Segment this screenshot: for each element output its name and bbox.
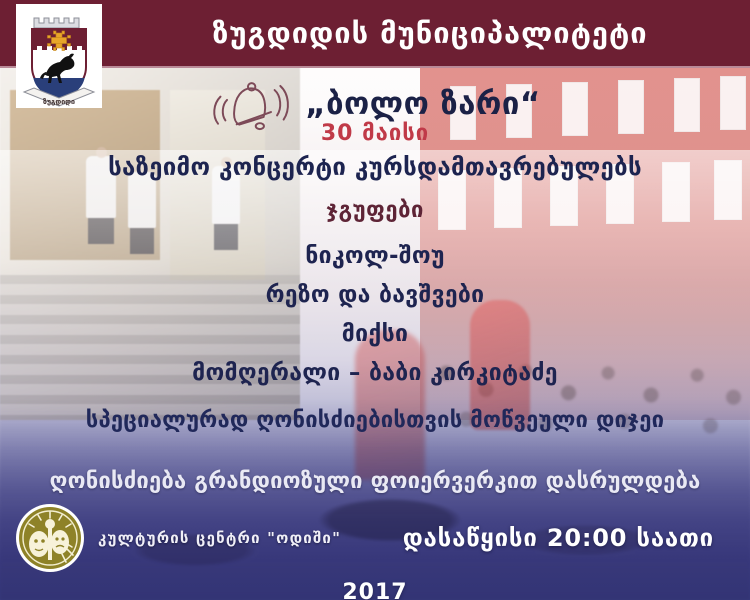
coat-of-arms: ზუგდიდი	[16, 4, 102, 108]
coat-of-arms-label: ზუგდიდი	[43, 98, 75, 106]
event-subtitle: საზეიმო კონცერტი კურსდამთავრებულებს	[0, 153, 750, 181]
event-date: 30 მაისი	[0, 121, 750, 146]
year-label: 2017	[0, 580, 750, 600]
header-bar: ზუგდიდის მუნიციპალიტეტი	[0, 0, 750, 68]
fireworks-note: ღონისძიება გრანდიოზული ფოიერვერკით დასრუ…	[0, 469, 750, 494]
lineup-heading: ჯგუფები	[0, 198, 750, 223]
list-item: მიქსი	[0, 321, 750, 347]
event-poster: ზუგდიდის მუნიციპალიტეტი	[0, 0, 750, 600]
municipality-title: ზუგდიდის მუნიციპალიტეტი	[120, 0, 740, 66]
poster-footer: კულტურის ცენტრი "ოდიში" დასაწყისი 20:00 …	[0, 498, 750, 600]
list-item: მომღერალი – ბაბი კირკიტაძე	[0, 360, 750, 386]
event-title: „ბოლო ზარი“	[305, 86, 541, 122]
dj-note: სპეციალურად ღონისძიებისთვის მოწვეული დიჯ…	[0, 408, 750, 433]
list-item: რეზო და ბავშვები	[0, 282, 750, 308]
culture-center-medallion-icon	[14, 502, 86, 574]
list-item: ნიკოლ-შოუ	[0, 243, 750, 269]
lineup-list: ნიკოლ-შოუ რეზო და ბავშვები მიქსი მომღერა…	[0, 243, 750, 494]
start-time: დასაწყისი 20:00 საათი	[403, 524, 714, 552]
poster-content: „ბოლო ზარი“ 30 მაისი საზეიმო კონცერტი კუ…	[0, 68, 750, 600]
organizer: კულტურის ცენტრი "ოდიში"	[14, 502, 341, 574]
organizer-name: კულტურის ცენტრი "ოდიში"	[98, 529, 341, 547]
